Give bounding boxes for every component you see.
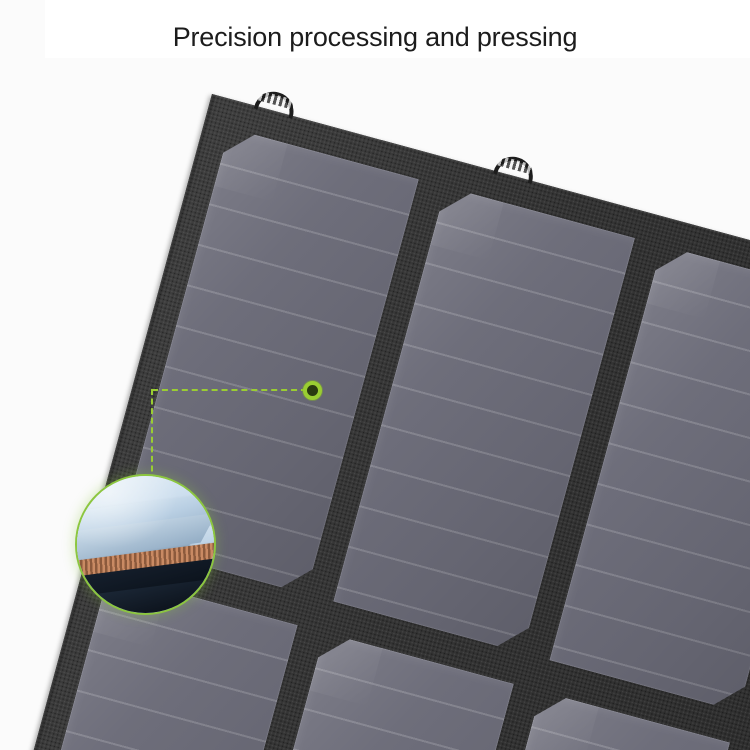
panel-fabric-frame (7, 94, 750, 750)
callout-marker-dot (303, 381, 322, 400)
page-title: Precision processing and pressing (0, 22, 750, 53)
solar-panel (7, 94, 750, 750)
callout-connector-vertical (151, 389, 153, 481)
product-feature-image: Precision processing and pressing (0, 0, 750, 750)
callout-connector-horizontal (152, 389, 307, 391)
detail-gloss-highlight (75, 474, 187, 556)
laminate-layers-detail (75, 474, 216, 615)
